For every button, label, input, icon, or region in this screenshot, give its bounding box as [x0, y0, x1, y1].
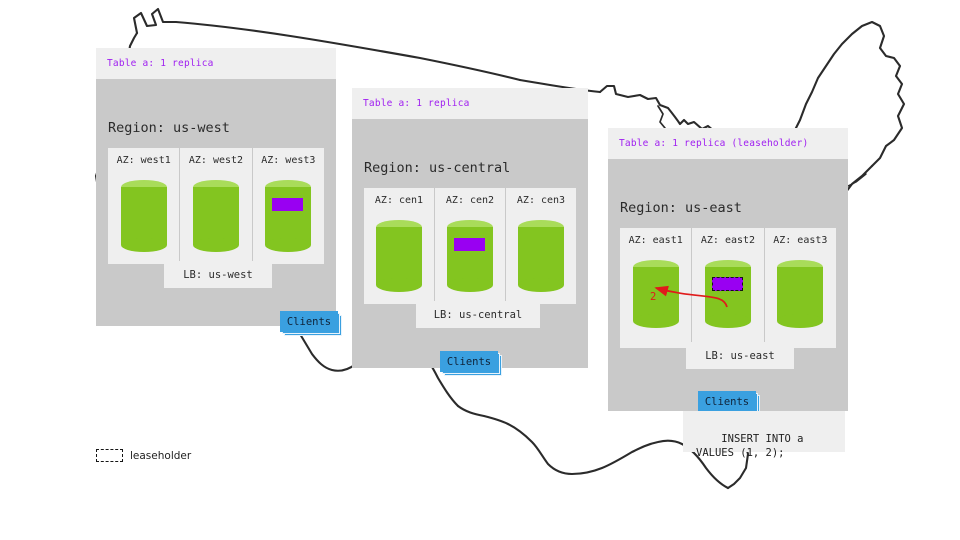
replica-status-label: Table a: 1 replica [107, 58, 214, 69]
load-balancer-label: LB: us-east [705, 350, 775, 362]
node-cylinder-cen2[interactable] [447, 220, 493, 292]
load-balancer-us-west[interactable]: LB: us-west [164, 261, 272, 288]
az-label-east1: AZ: east1 [620, 235, 691, 246]
region-body-us-central: Region: us-central AZ: cen1 AZ: cen2 [352, 119, 588, 368]
az-cell-east3[interactable]: AZ: east3 [764, 228, 836, 348]
az-cell-east2[interactable]: AZ: east2 [691, 228, 763, 348]
cylinder-body [447, 227, 493, 285]
clients-label: Clients [705, 396, 749, 408]
replica-status-label: Table a: 1 replica (leaseholder) [619, 138, 808, 149]
region-body-us-west: Region: us-west AZ: west1 AZ: west2 [96, 79, 336, 326]
range-leaseholder-east2[interactable] [712, 277, 743, 291]
cylinder-body [193, 187, 239, 245]
region-panel-us-west[interactable]: Table a: 1 replica Region: us-west AZ: w… [96, 48, 336, 326]
clients-stack-us-central[interactable]: Clients [440, 351, 502, 376]
az-cell-cen2[interactable]: AZ: cen2 [434, 188, 505, 304]
region-panel-us-east[interactable]: Table a: 1 replica (leaseholder) Region:… [608, 128, 848, 411]
az-cell-cen3[interactable]: AZ: cen3 [505, 188, 576, 304]
node-cylinder-cen3[interactable] [518, 220, 564, 292]
region-title-label: Region: us-east [620, 200, 742, 216]
cylinder-bottom [447, 278, 493, 292]
cylinder-body [121, 187, 167, 245]
load-balancer-us-east[interactable]: LB: us-east [686, 342, 794, 369]
legend-label: leaseholder [130, 450, 191, 462]
sql-statement-box: INSERT INTO a VALUES (1, 2); [683, 411, 845, 452]
region-header-us-west: Table a: 1 replica [96, 48, 336, 79]
cylinder-body [265, 187, 311, 245]
region-title-label: Region: us-central [364, 160, 510, 176]
az-label-east2: AZ: east2 [692, 235, 763, 246]
clients-button[interactable]: Clients [280, 311, 338, 332]
clients-stack-us-west[interactable]: Clients [280, 311, 342, 336]
clients-label: Clients [287, 316, 331, 328]
clients-button[interactable]: Clients [440, 351, 498, 372]
region-panel-us-central[interactable]: Table a: 1 replica Region: us-central AZ… [352, 88, 588, 368]
az-cell-east1[interactable]: AZ: east1 [620, 228, 691, 348]
diagram-canvas: Table a: 1 replica Region: us-west AZ: w… [0, 0, 960, 540]
az-label-cen2: AZ: cen2 [435, 195, 505, 206]
az-container-us-east: AZ: east1 AZ: east2 [620, 228, 836, 348]
cylinder-body [518, 227, 564, 285]
cylinder-body [376, 227, 422, 285]
cylinder-bottom [777, 314, 823, 328]
az-container-us-central: AZ: cen1 AZ: cen2 [364, 188, 576, 304]
cylinder-body [705, 267, 751, 321]
az-label-west1: AZ: west1 [108, 155, 179, 166]
clients-label: Clients [447, 356, 491, 368]
range-replica-west3[interactable] [272, 198, 303, 211]
load-balancer-label: LB: us-central [434, 309, 523, 321]
legend-leaseholder: leaseholder [96, 449, 191, 462]
cylinder-bottom [518, 278, 564, 292]
cylinder-bottom [633, 314, 679, 328]
cylinder-bottom [705, 314, 751, 328]
az-label-cen3: AZ: cen3 [506, 195, 576, 206]
az-cell-west3[interactable]: AZ: west3 [252, 148, 324, 264]
dashed-rect-icon [96, 449, 123, 462]
cylinder-body [777, 267, 823, 321]
node-cylinder-east2[interactable] [705, 260, 751, 328]
az-label-cen1: AZ: cen1 [364, 195, 434, 206]
cylinder-bottom [121, 238, 167, 252]
load-balancer-us-central[interactable]: LB: us-central [416, 301, 540, 328]
az-cell-west1[interactable]: AZ: west1 [108, 148, 179, 264]
arrow-step-label-2: 2 [650, 291, 656, 303]
range-replica-cen2[interactable] [454, 238, 485, 251]
az-label-west2: AZ: west2 [180, 155, 251, 166]
az-cell-west2[interactable]: AZ: west2 [179, 148, 251, 264]
cylinder-bottom [193, 238, 239, 252]
region-body-us-east: Region: us-east AZ: east1 AZ: east2 [608, 159, 848, 411]
node-cylinder-east3[interactable] [777, 260, 823, 328]
node-cylinder-cen1[interactable] [376, 220, 422, 292]
az-label-east3: AZ: east3 [765, 235, 836, 246]
cylinder-bottom [376, 278, 422, 292]
load-balancer-label: LB: us-west [183, 269, 253, 281]
region-title-label: Region: us-west [108, 120, 230, 136]
az-cell-cen1[interactable]: AZ: cen1 [364, 188, 434, 304]
az-label-west3: AZ: west3 [253, 155, 324, 166]
replica-status-label: Table a: 1 replica [363, 98, 470, 109]
az-container-us-west: AZ: west1 AZ: west2 AZ [108, 148, 324, 264]
node-cylinder-west2[interactable] [193, 180, 239, 252]
region-header-us-east: Table a: 1 replica (leaseholder) [608, 128, 848, 159]
region-header-us-central: Table a: 1 replica [352, 88, 588, 119]
node-cylinder-west1[interactable] [121, 180, 167, 252]
node-cylinder-west3[interactable] [265, 180, 311, 252]
cylinder-bottom [265, 238, 311, 252]
clients-button[interactable]: Clients [698, 391, 756, 412]
